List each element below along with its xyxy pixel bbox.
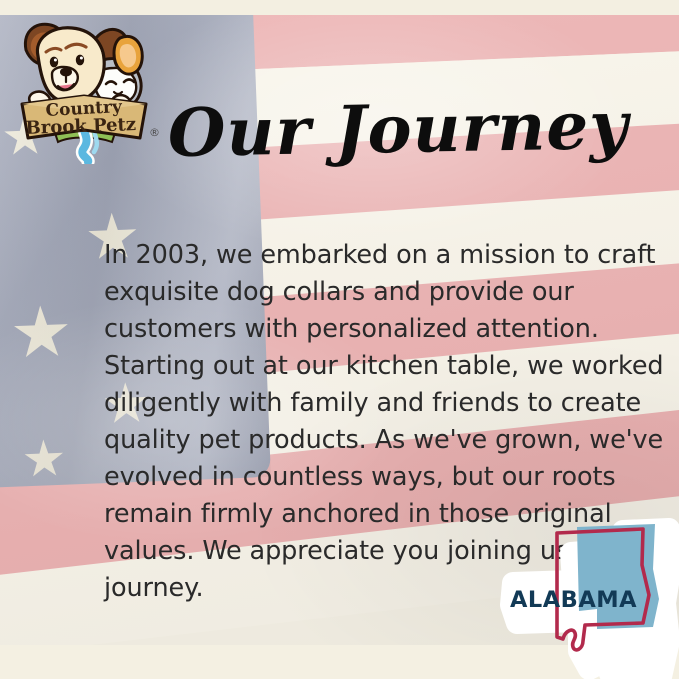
registered-trademark-icon: ® — [149, 126, 160, 139]
page-title: Our Journey — [167, 92, 629, 166]
country-brook-petz-logo[interactable]: Country Brook Petz ® — [8, 12, 160, 164]
flag-star — [12, 304, 70, 362]
flag-star — [23, 439, 65, 481]
alabama-state-sticker: ALABAMA — [493, 491, 679, 679]
marketing-banner: Country Brook Petz ® Our Journey In 2003… — [0, 0, 679, 679]
logo-text-line2: Brook Petz — [25, 114, 136, 139]
state-name-label: ALABAMA — [510, 587, 637, 613]
